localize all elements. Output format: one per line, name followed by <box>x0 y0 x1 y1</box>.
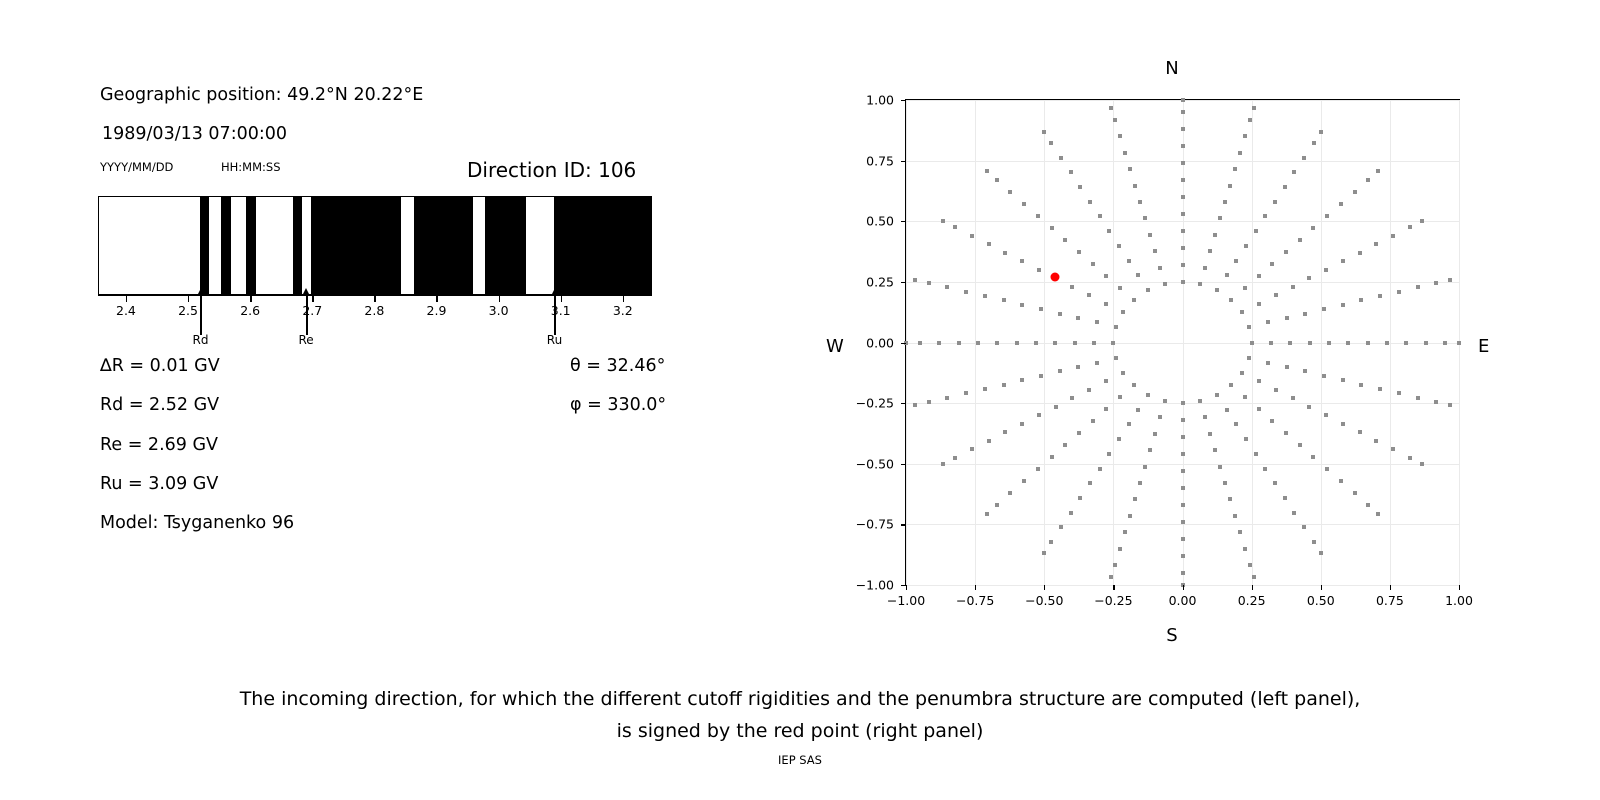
direction-sample-dot <box>1223 481 1227 485</box>
penumbra-forbidden-band <box>200 197 209 294</box>
direction-sample-dot <box>1181 161 1185 165</box>
plot-x-tick-label: 1.00 <box>1445 593 1473 608</box>
direction-sample-dot <box>1163 282 1167 286</box>
direction-sample-dot <box>1136 408 1140 412</box>
direction-sample-dot <box>987 242 991 246</box>
direction-sample-dot <box>976 341 980 345</box>
direction-sample-dot <box>1243 134 1247 138</box>
direction-sample-dot <box>1091 262 1095 266</box>
direction-sample-dot <box>1104 379 1108 383</box>
direction-sample-dot <box>1181 127 1185 131</box>
direction-sample-dot <box>913 403 917 407</box>
direction-sample-dot <box>1143 216 1147 220</box>
direction-sample-dot <box>1240 371 1244 375</box>
penumbra-x-tick-label: 2.9 <box>427 303 447 318</box>
direction-sample-dot <box>1181 503 1185 507</box>
penumbra-axis: 2.42.52.62.72.82.93.03.13.2RdReRu <box>98 295 652 297</box>
direction-sample-dot <box>1113 563 1117 567</box>
direction-sample-dot <box>1054 405 1058 409</box>
direction-sample-dot <box>1358 251 1362 255</box>
direction-sample-dot <box>1087 388 1091 392</box>
direction-sample-dot <box>1020 378 1024 382</box>
direction-sample-dot <box>1322 374 1326 378</box>
direction-sample-dot <box>1077 431 1081 435</box>
direction-sample-dot <box>1117 244 1121 248</box>
direction-sample-dot <box>1341 378 1345 382</box>
direction-sample-dot <box>1263 214 1267 218</box>
direction-sample-dot <box>1073 341 1077 345</box>
direction-sample-dot <box>1234 422 1238 426</box>
direction-sample-dot <box>1254 229 1258 233</box>
direction-sample-dot <box>1133 497 1137 501</box>
direction-sample-dot <box>1104 274 1108 278</box>
direction-sample-dot <box>1058 312 1062 316</box>
direction-sample-dot <box>1303 312 1307 316</box>
penumbra-forbidden-band <box>414 197 473 294</box>
direction-sample-dot <box>1443 341 1447 345</box>
direction-sample-dot <box>1138 200 1142 204</box>
footer-credit: IEP SAS <box>0 753 1600 767</box>
direction-sample-dot <box>1424 341 1428 345</box>
direction-sample-dot <box>1374 439 1378 443</box>
direction-sample-dot <box>1181 212 1185 216</box>
direction-sample-dot <box>1002 383 1006 387</box>
direction-sample-dot <box>1308 341 1312 345</box>
direction-sample-dot <box>1284 250 1288 254</box>
direction-sample-dot <box>1111 341 1115 345</box>
direction-sample-dot <box>1243 547 1247 551</box>
direction-sample-dot <box>1098 214 1102 218</box>
direction-sample-dot <box>987 439 991 443</box>
direction-sample-dot <box>1059 156 1063 160</box>
direction-sample-dot <box>1078 496 1082 500</box>
direction-sample-dot <box>1312 141 1316 145</box>
direction-sample-dot <box>1109 106 1113 110</box>
direction-sample-dot <box>1341 303 1345 307</box>
direction-sample-dot <box>1353 190 1357 194</box>
direction-sample-dot <box>1181 195 1185 199</box>
direction-sample-dot <box>1181 452 1185 456</box>
marker-arrow-shaft <box>554 295 556 335</box>
direction-sample-dot <box>1283 496 1287 500</box>
direction-sample-dot <box>1213 448 1217 452</box>
direction-sample-dot <box>1037 268 1041 272</box>
plot-x-tick <box>906 585 907 590</box>
marker-arrow-head-icon <box>302 288 310 296</box>
direction-sample-dot <box>1353 491 1357 495</box>
plot-y-tick <box>901 221 906 222</box>
direction-sample-dot <box>1132 298 1136 302</box>
direction-sample-dot <box>1148 448 1152 452</box>
direction-sample-dot <box>1181 144 1185 148</box>
direction-sample-dot <box>1181 418 1185 422</box>
direction-sample-dot <box>1107 452 1111 456</box>
caption-line-1: The incoming direction, for which the di… <box>0 683 1600 715</box>
direction-sample-dot <box>1015 341 1019 345</box>
direction-sample-dot <box>1181 520 1185 524</box>
direction-sample-dot <box>1181 435 1185 439</box>
plot-y-tick <box>901 100 906 101</box>
direction-sample-dot <box>918 341 922 345</box>
direction-sample-dot <box>1358 430 1362 434</box>
direction-sample-dot <box>1234 259 1238 263</box>
direction-sample-dot <box>1095 320 1099 324</box>
direction-sample-dot <box>1341 422 1345 426</box>
direction-sample-dot <box>1053 341 1057 345</box>
plot-y-tick <box>901 524 906 525</box>
penumbra-x-tick <box>312 295 313 302</box>
direction-sample-dot <box>1257 407 1261 411</box>
direction-sample-dot <box>1042 130 1046 134</box>
direction-sample-dot <box>1213 233 1217 237</box>
direction-sample-dot <box>1359 298 1363 302</box>
direction-sample-dot <box>1366 178 1370 182</box>
direction-sample-dot <box>1298 238 1302 242</box>
selected-direction-marker <box>1051 273 1060 282</box>
plot-x-tick <box>1390 585 1391 590</box>
penumbra-x-tick-label: 2.8 <box>364 303 384 318</box>
direction-sample-dot <box>1218 216 1222 220</box>
direction-sample-dot <box>1273 481 1277 485</box>
direction-sample-dot <box>1247 356 1251 360</box>
direction-sample-dot <box>1339 479 1343 483</box>
direction-sample-dot <box>1076 365 1080 369</box>
direction-sample-dot <box>1050 226 1054 230</box>
direction-sample-dot <box>1128 514 1132 518</box>
direction-sample-dot <box>1420 219 1424 223</box>
plot-x-tick-label: −1.00 <box>887 593 925 608</box>
penumbra-x-tick <box>250 295 251 302</box>
direction-sample-dot <box>1114 325 1118 329</box>
cardinal-south: S <box>1166 625 1177 646</box>
direction-sample-dot <box>1327 341 1331 345</box>
direction-sample-dot <box>1374 242 1378 246</box>
cardinal-east: E <box>1478 336 1489 357</box>
direction-sample-dot <box>1123 151 1127 155</box>
direction-sample-dot <box>964 391 968 395</box>
direction-sample-dot <box>1121 371 1125 375</box>
plot-x-tick <box>1252 585 1253 590</box>
direction-sample-dot <box>1063 238 1067 242</box>
direction-sample-dot <box>1225 408 1229 412</box>
direction-sample-dot <box>1244 244 1248 248</box>
plot-x-tick <box>1044 585 1045 590</box>
direction-sample-dot <box>1303 369 1307 373</box>
penumbra-x-tick-label: 2.4 <box>116 303 136 318</box>
direction-sample-dot <box>1254 452 1258 456</box>
direction-sample-dot <box>1233 167 1237 171</box>
direction-sample-dot <box>1181 469 1185 473</box>
direction-sample-dot <box>983 294 987 298</box>
plot-x-tick-label: −0.75 <box>956 593 994 608</box>
penumbra-forbidden-band <box>554 197 652 294</box>
penumbra-x-tick <box>188 295 189 302</box>
direction-sample-dot <box>1036 214 1040 218</box>
plot-y-tick-label: 0.25 <box>836 274 894 289</box>
marker-arrow-head-icon <box>197 288 205 296</box>
direction-sample-dot <box>1416 396 1420 400</box>
direction-sample-dot <box>1302 525 1306 529</box>
direction-sample-dot <box>1325 214 1329 218</box>
direction-sample-dot <box>1397 391 1401 395</box>
penumbra-x-tick-label: 2.6 <box>240 303 260 318</box>
direction-sample-dot <box>1288 341 1292 345</box>
direction-sample-dot <box>1181 554 1185 558</box>
direction-sample-dot <box>964 290 968 294</box>
direction-sample-dot <box>1434 400 1438 404</box>
direction-sample-dot <box>1020 303 1024 307</box>
plot-y-tick-label: 0.00 <box>836 335 894 350</box>
direction-sample-dot <box>1158 415 1162 419</box>
direction-sample-dot <box>1153 249 1157 253</box>
direction-sample-dot <box>1285 316 1289 320</box>
figure-caption: The incoming direction, for which the di… <box>0 683 1600 747</box>
direction-sample-dot <box>1146 393 1150 397</box>
direction-sample-dot <box>1039 307 1043 311</box>
direction-sample-dot <box>1008 190 1012 194</box>
penumbra-forbidden-band <box>485 197 525 294</box>
direction-sample-dot <box>1037 413 1041 417</box>
direction-sample-dot <box>1270 419 1274 423</box>
direction-sample-dot <box>1098 467 1102 471</box>
direction-sample-dot <box>970 234 974 238</box>
direction-sample-dot <box>1252 106 1256 110</box>
direction-sample-dot <box>1121 310 1125 314</box>
direction-sample-dot <box>1225 273 1229 277</box>
direction-sample-dot <box>1146 288 1150 292</box>
direction-sample-dot <box>941 219 945 223</box>
direction-sample-dot <box>1203 415 1207 419</box>
value-theta: θ = 32.46° <box>570 356 665 376</box>
direction-sample-dot <box>1307 276 1311 280</box>
direction-sample-dot <box>1095 361 1099 365</box>
direction-sample-dot <box>1049 540 1053 544</box>
direction-sample-dot <box>1181 280 1185 284</box>
direction-sample-dot <box>1408 456 1412 460</box>
direction-sample-dot <box>1127 259 1131 263</box>
direction-sample-dot <box>1324 268 1328 272</box>
direction-sample-dot <box>953 456 957 460</box>
direction-sample-dot <box>1229 383 1233 387</box>
direction-sample-dot <box>1114 356 1118 360</box>
direction-sample-dot <box>1198 282 1202 286</box>
plot-x-tick <box>1321 585 1322 590</box>
plot-y-tick-label: −0.50 <box>836 456 894 471</box>
direction-sample-dot <box>1002 298 1006 302</box>
direction-sample-dot <box>1292 170 1296 174</box>
direction-sample-dot <box>1404 341 1408 345</box>
penumbra-x-tick <box>561 295 562 302</box>
direction-sample-dot <box>1127 422 1131 426</box>
direction-sample-dot <box>1022 202 1026 206</box>
direction-sample-dot <box>1448 403 1452 407</box>
direction-sample-dot <box>1228 497 1232 501</box>
direction-sample-dot <box>1181 178 1185 182</box>
direction-sample-dot <box>1118 286 1122 290</box>
value-phi: φ = 330.0° <box>570 395 666 415</box>
direction-sample-dot <box>1319 130 1323 134</box>
direction-sample-dot <box>1274 293 1278 297</box>
direction-sample-dot <box>1003 430 1007 434</box>
direction-sample-dot <box>1050 455 1054 459</box>
direction-sample-dot <box>995 503 999 507</box>
direction-sample-dot <box>1109 575 1113 579</box>
direction-sample-dot <box>1229 298 1233 302</box>
direction-sample-dot <box>953 225 957 229</box>
plot-y-tick <box>901 282 906 283</box>
direction-sample-dot <box>1302 156 1306 160</box>
direction-sample-dot <box>1346 341 1350 345</box>
direction-sample-dot <box>1092 341 1096 345</box>
cardinal-west: W <box>826 336 844 357</box>
direction-sample-dot <box>1118 134 1122 138</box>
penumbra-x-tick <box>499 295 500 302</box>
direction-sample-dot <box>1257 274 1261 278</box>
direction-sample-dot <box>1263 467 1267 471</box>
direction-sample-dot <box>1240 310 1244 314</box>
direction-sample-dot <box>1143 465 1147 469</box>
direction-sample-dot <box>1324 413 1328 417</box>
direction-sample-dot <box>1039 374 1043 378</box>
direction-sample-dot <box>1270 262 1274 266</box>
direction-sample-dot <box>1022 479 1026 483</box>
plot-y-tick-label: −0.75 <box>836 517 894 532</box>
direction-sample-dot <box>1243 286 1247 290</box>
marker-arrow-shaft <box>200 295 202 335</box>
plot-y-tick-label: −1.00 <box>836 578 894 593</box>
direction-sample-dot <box>941 462 945 466</box>
direction-sample-dot <box>1117 437 1121 441</box>
caption-line-2: is signed by the red point (right panel) <box>0 715 1600 747</box>
direction-sample-dot <box>1181 98 1185 102</box>
direction-sample-dot <box>1434 281 1438 285</box>
penumbra-bar <box>98 196 652 295</box>
penumbra-forbidden-band <box>311 197 401 294</box>
direction-sample-dot <box>1020 422 1024 426</box>
plot-x-tick <box>1113 585 1114 590</box>
marker-label: Rd <box>192 333 208 347</box>
plot-x-tick-label: −0.25 <box>1094 593 1132 608</box>
value-rd: Rd = 2.52 GV <box>100 395 219 415</box>
direction-sample-dot <box>1003 251 1007 255</box>
direction-sample-dot <box>1248 563 1252 567</box>
direction-sample-dot <box>1181 401 1185 405</box>
direction-sample-dot <box>1391 234 1395 238</box>
direction-sample-dot <box>1269 341 1273 345</box>
direction-sample-dot <box>1385 341 1389 345</box>
geographic-position: Geographic position: 49.2°N 20.22°E <box>100 85 423 105</box>
direction-sample-dot <box>1250 341 1254 345</box>
datetime-value: 1989/03/13 07:00:00 <box>102 124 287 144</box>
direction-sample-dot <box>1311 226 1315 230</box>
direction-sample-dot <box>995 341 999 345</box>
penumbra-forbidden-band <box>246 197 255 294</box>
plot-x-tick-label: 0.25 <box>1238 593 1266 608</box>
direction-sample-dot <box>945 396 949 400</box>
direction-sample-dot <box>1163 399 1167 403</box>
plot-x-tick-label: 0.75 <box>1376 593 1404 608</box>
gridline-horizontal <box>906 464 1459 465</box>
direction-sample-dot <box>1366 503 1370 507</box>
value-delta-r: ∆R = 0.01 GV <box>100 356 220 376</box>
penumbra-x-tick-label: 3.2 <box>613 303 633 318</box>
direction-sample-dot <box>1397 290 1401 294</box>
direction-sample-dot <box>1252 575 1256 579</box>
direction-sample-dot <box>1133 184 1137 188</box>
direction-sample-dot <box>1208 249 1212 253</box>
plot-x-tick-label: 0.00 <box>1169 593 1197 608</box>
direction-sample-dot <box>1378 387 1382 391</box>
direction-sample-dot <box>937 341 941 345</box>
direction-sample-dot <box>1198 399 1202 403</box>
direction-sample-dot <box>970 447 974 451</box>
direction-sample-dot <box>1244 437 1248 441</box>
marker-arrow-shaft <box>306 295 308 335</box>
direction-sample-dot <box>1420 462 1424 466</box>
direction-sample-dot <box>1341 259 1345 263</box>
direction-sample-dot <box>1087 293 1091 297</box>
plot-x-tick-label: 0.50 <box>1307 593 1335 608</box>
direction-sample-dot <box>1257 302 1261 306</box>
direction-sample-dot <box>1059 525 1063 529</box>
direction-sample-dot <box>1378 294 1382 298</box>
plot-y-tick <box>901 464 906 465</box>
penumbra-x-tick <box>436 295 437 302</box>
direction-sample-dot <box>1215 393 1219 397</box>
plot-x-tick-label: −0.50 <box>1025 593 1063 608</box>
direction-sample-dot <box>1307 405 1311 409</box>
marker-arrow-head-icon <box>551 288 559 296</box>
direction-sample-dot <box>1312 540 1316 544</box>
direction-sample-dot <box>1243 395 1247 399</box>
direction-sample-dot <box>1128 167 1132 171</box>
penumbra-forbidden-band <box>221 197 230 294</box>
direction-sample-dot <box>1049 141 1053 145</box>
direction-sample-dot <box>1208 432 1212 436</box>
plot-y-tick <box>901 343 906 344</box>
direction-sample-dot <box>1247 325 1251 329</box>
direction-sample-dot <box>1058 369 1062 373</box>
direction-sample-dot <box>1123 530 1127 534</box>
penumbra-forbidden-band <box>293 197 302 294</box>
direction-sample-dot <box>1273 200 1277 204</box>
direction-sample-dot <box>957 341 961 345</box>
direction-sample-dot <box>1266 320 1270 324</box>
direction-grid-plot: −1.00−0.75−0.50−0.250.000.250.500.751.00… <box>905 99 1460 586</box>
direction-sample-dot <box>1181 229 1185 233</box>
direction-sample-dot <box>1107 229 1111 233</box>
penumbra-x-tick <box>623 295 624 302</box>
direction-sample-dot <box>1311 455 1315 459</box>
direction-sample-dot <box>1319 551 1323 555</box>
direction-sample-dot <box>1238 530 1242 534</box>
direction-sample-dot <box>1298 443 1302 447</box>
direction-sample-dot <box>1132 383 1136 387</box>
direction-id-label: Direction ID: 106 <box>467 158 636 182</box>
direction-sample-dot <box>1008 491 1012 495</box>
direction-sample-dot <box>927 400 931 404</box>
direction-sample-dot <box>1181 571 1185 575</box>
direction-sample-dot <box>1238 151 1242 155</box>
penumbra-x-tick-label: 2.5 <box>178 303 198 318</box>
plot-y-tick <box>901 403 906 404</box>
plot-y-tick-label: 0.50 <box>836 214 894 229</box>
direction-sample-dot <box>1448 278 1452 282</box>
direction-sample-dot <box>1070 285 1074 289</box>
direction-sample-dot <box>1181 110 1185 114</box>
direction-sample-dot <box>1088 200 1092 204</box>
direction-sample-dot <box>1223 200 1227 204</box>
